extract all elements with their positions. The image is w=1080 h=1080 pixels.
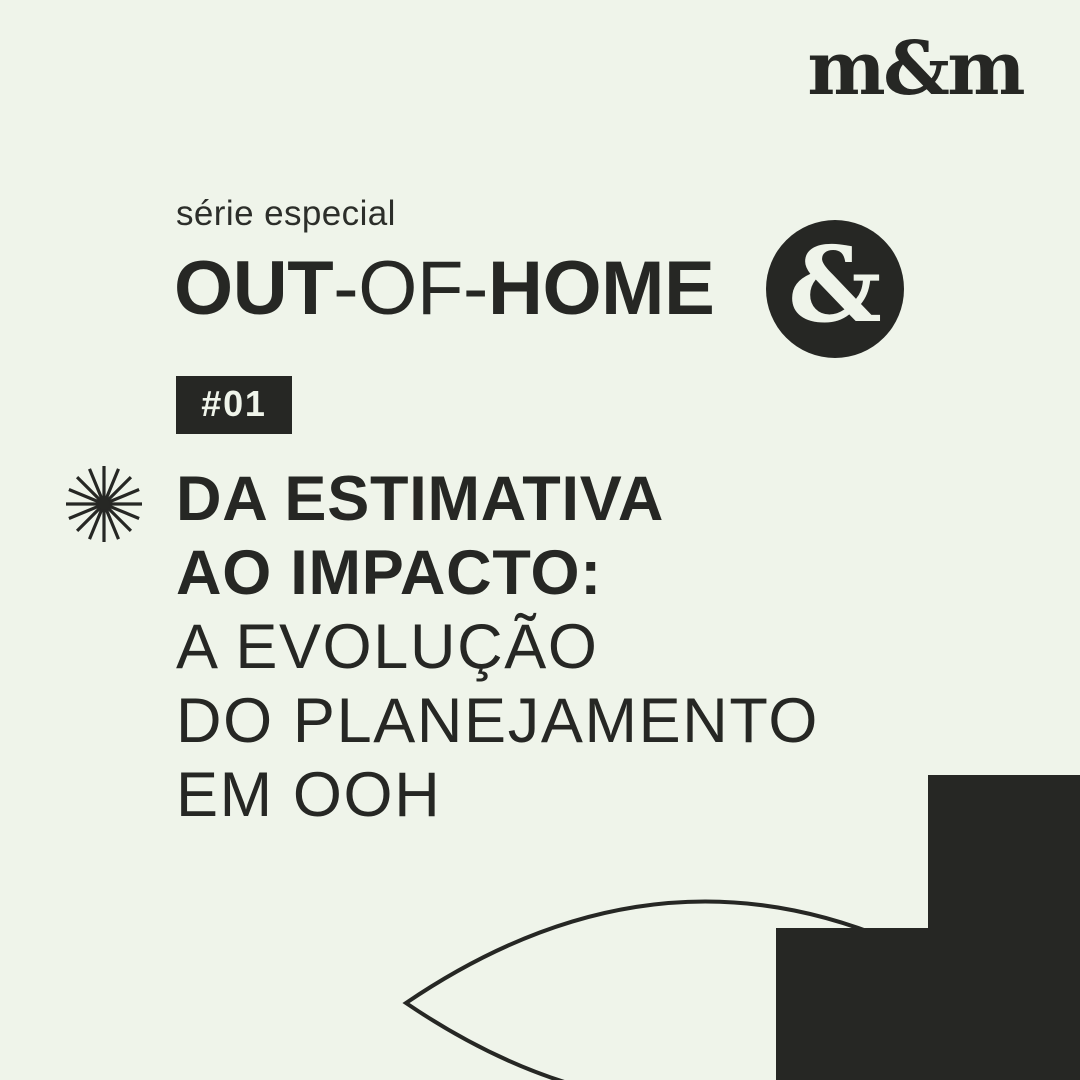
- headline-line-3: A EVOLUÇÃO: [176, 610, 966, 684]
- ampersand-icon: &: [788, 233, 882, 337]
- lockup-part-of: -OF-: [333, 251, 488, 327]
- stair-block-right-fill: [1005, 775, 1080, 1080]
- brand-logo: m&m: [851, 33, 1023, 105]
- headline: DA ESTIMATIVA AO IMPACTO: A EVOLUÇÃO DO …: [176, 462, 966, 832]
- starburst-icon: [60, 460, 148, 548]
- ampersand-badge: &: [766, 220, 904, 358]
- lens-outline-shape: [406, 902, 1005, 1080]
- episode-badge-label: #01: [201, 386, 266, 422]
- headline-line-4: DO PLANEJAMENTO: [176, 684, 966, 758]
- poster-canvas: m&m série especial OUT -OF- HOME & #01: [0, 0, 1080, 1080]
- lockup-part-out: OUT: [174, 251, 333, 327]
- brand-logo-text: m&m: [807, 32, 1023, 106]
- headline-line-5: EM OOH: [176, 758, 966, 832]
- lockup-part-home: HOME: [488, 251, 714, 327]
- headline-line-2: AO IMPACTO:: [176, 536, 966, 610]
- headline-line-1: DA ESTIMATIVA: [176, 462, 966, 536]
- series-label: série especial: [176, 196, 396, 231]
- stair-block-lower: [776, 928, 1080, 1080]
- episode-badge: #01: [176, 376, 292, 434]
- ooh-lockup: OUT -OF- HOME: [174, 246, 714, 332]
